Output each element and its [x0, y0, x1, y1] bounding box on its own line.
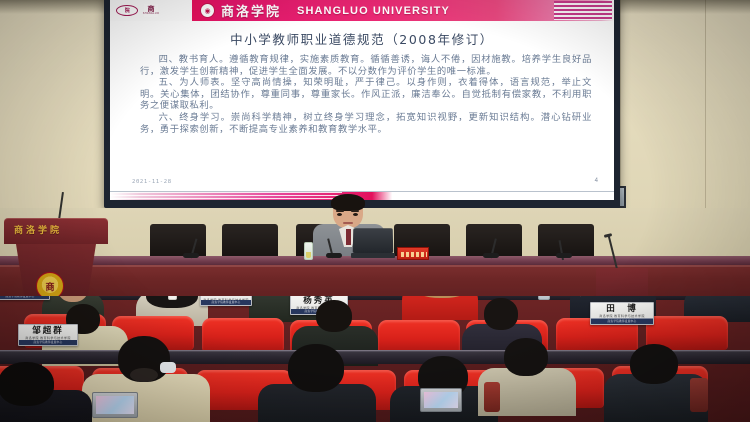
- name-placard: 王 会 商洛学院 教育科学与技术学院 商洛学院教师发展中心: [200, 296, 252, 306]
- audience-person: [690, 296, 750, 318]
- lectern-top: 商洛学院: [4, 218, 108, 244]
- placard-footer: 商洛学院教师发展中心: [201, 300, 251, 305]
- placard-name: 田 博: [606, 304, 638, 314]
- person-head: [504, 338, 548, 376]
- placard-footer: 商洛学院教师发展中心: [591, 319, 653, 324]
- microphone-base: [556, 253, 572, 258]
- placard-subtitle: 商洛学院 教育科学与技术学院: [599, 314, 644, 318]
- audience-chair[interactable]: [378, 320, 460, 354]
- person-head: [316, 300, 352, 332]
- slide-date-stamp: 2021-11-28: [132, 179, 172, 185]
- banner-stripes-decor: [554, 1, 612, 20]
- thermos-cup-icon: [538, 296, 550, 300]
- presidium-chair: [150, 224, 206, 257]
- banner-title-bar: ◉ 商洛学院 SHANGLUO UNIVERSITY: [192, 0, 614, 21]
- speaker-eye: [337, 213, 342, 216]
- logo-square-sub: SHANGLUO: [143, 13, 159, 16]
- laptop-lid: [353, 228, 394, 253]
- laptop-icon[interactable]: [420, 388, 462, 412]
- name-placard: 会办 商洛学院 商洛学院教师发展中心: [0, 296, 50, 300]
- banner-logo-group: 院 商 SHANGLUO: [110, 0, 192, 21]
- microphone-base: [483, 253, 499, 258]
- person-body-red-coat: [402, 296, 478, 320]
- name-placard: 田 博 商洛学院 教育科学与技术学院 商洛学院教师发展中心: [590, 302, 654, 325]
- microphone-base: [326, 253, 342, 258]
- laptop-base: [351, 253, 395, 258]
- speaker-hair: [331, 194, 365, 211]
- person-head: [630, 344, 678, 384]
- speaker-brow: [351, 210, 359, 212]
- banner-english-name: SHANGLUO UNIVERSITY: [297, 5, 450, 17]
- audience-area: 会办 商洛学院 商洛学院教师发展中心 王 会 商洛学院 教育科学与技术学院 商洛…: [0, 296, 750, 422]
- hair-bun: [130, 368, 158, 382]
- slide-page-number: 4: [595, 178, 598, 184]
- slide-paragraph-4: 四、教书育人。遵循教育规律，实施素质教育。循循善诱，诲人不倦，因材施教。培养学生…: [140, 54, 592, 77]
- logo-oval-icon: 院: [116, 5, 138, 16]
- placard-name: 邹超群: [32, 326, 64, 336]
- speaker-mouth: [343, 222, 353, 224]
- slide-body: 中小学教师职业道德规范（2008年修订） 四、教书育人。遵循教育规律，实施素质教…: [110, 21, 614, 186]
- projection-screen-frame: 院 商 SHANGLUO ◉ 商洛学院 SHANGLUO UNIVERSITY …: [104, 0, 620, 208]
- logo-oval-text: 院: [125, 7, 130, 14]
- name-placard: 邹超群 商洛学院 教育科学与技术学院 商洛学院教师发展中心: [18, 324, 78, 346]
- thermos-bottle-icon: [690, 378, 708, 412]
- red-gift-box: [397, 247, 429, 260]
- lectern-left: 商洛学院 商: [4, 218, 108, 306]
- slide-paragraph-5: 五、为人师表。坚守高尚情操，知荣明耻，严于律己。以身作则，衣着得体，语言规范，举…: [140, 77, 592, 112]
- face-mask-icon: [160, 362, 176, 373]
- lectern-name-text: 商洛学院: [14, 223, 62, 236]
- person-head: [0, 362, 54, 406]
- speaker-eye: [353, 213, 358, 216]
- laptop-icon[interactable]: [92, 392, 138, 418]
- audience-person-foreground: [0, 356, 78, 422]
- placard-footer: 商洛学院教师发展中心: [0, 296, 49, 299]
- person-head: [484, 298, 518, 330]
- tea-cup-icon: [304, 242, 313, 260]
- paper-cup-icon: [168, 296, 177, 300]
- projection-screen: 院 商 SHANGLUO ◉ 商洛学院 SHANGLUO UNIVERSITY …: [110, 0, 614, 200]
- slide-title: 中小学教师职业道德规范（2008年修订）: [110, 29, 614, 48]
- microphone-base: [183, 253, 199, 258]
- thermos-bottle-icon: [484, 382, 500, 412]
- slide-paragraph-6: 六、终身学习。崇尚科学精神，树立终身学习理念，拓宽知识视野，更新知识结构。潜心钻…: [140, 112, 592, 135]
- banner-chinese-name: 商洛学院: [221, 1, 281, 20]
- university-crest-icon: ◉: [200, 3, 215, 18]
- slide-text-block: 四、教书育人。遵循教育规律，实施素质教育。循循善诱，诲人不倦，因材施教。培养学生…: [140, 54, 592, 135]
- logo-square-icon: 商 SHANGLUO: [144, 4, 158, 17]
- audience-person-foreground: [270, 344, 362, 422]
- lecture-hall-scene: 院 商 SHANGLUO ◉ 商洛学院 SHANGLUO UNIVERSITY …: [0, 0, 750, 422]
- presidium-chair: [222, 224, 278, 257]
- placard-footer: 商洛学院教师发展中心: [19, 340, 77, 345]
- audience-person: [410, 296, 470, 316]
- speaker-brow: [336, 210, 344, 212]
- slide-banner: 院 商 SHANGLUO ◉ 商洛学院 SHANGLUO UNIVERSITY: [110, 0, 614, 21]
- presidium-laptop: [351, 228, 395, 258]
- slide-footer: 2021-11-28 4: [110, 170, 614, 186]
- person-head: [288, 344, 344, 392]
- audience-person: [612, 344, 698, 414]
- seal-glyph: 商: [45, 280, 54, 293]
